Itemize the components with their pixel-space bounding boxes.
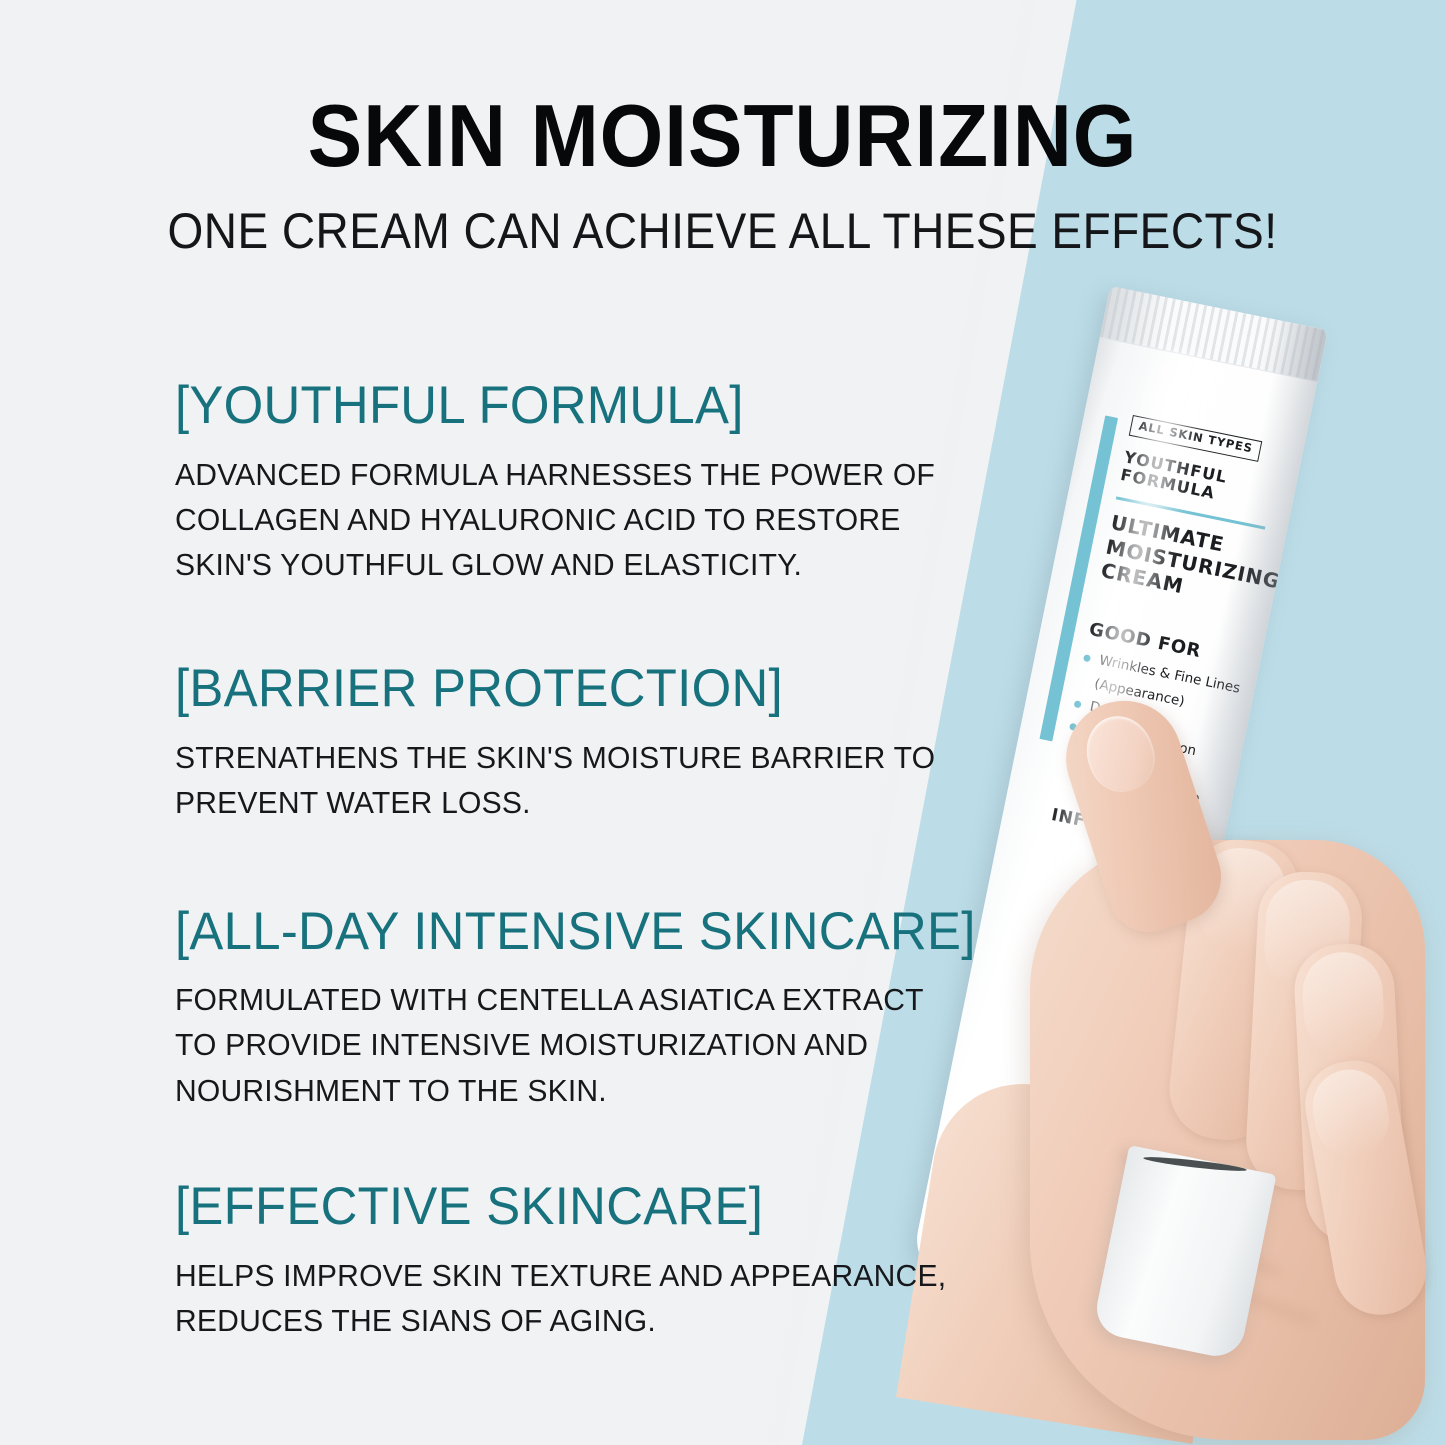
page-subtitle: ONE CREAM CAN ACHIEVE ALL THESE EFFECTS! xyxy=(58,206,1387,256)
feature-body: HELPS IMPROVE SKIN TEXTURE AND APPEARANC… xyxy=(175,1253,1009,1344)
feature-title: [YOUTHFUL FORMULA] xyxy=(175,378,1001,434)
product-marketing-poster: SKIN MOISTURIZING ONE CREAM CAN ACHIEVE … xyxy=(0,0,1445,1445)
feature-body-line: STRENATHENS THE SKIN'S MOISTURE BARRIER … xyxy=(175,735,1009,780)
feature-body: FORMULATED WITH CENTELLA ASIATICA EXTRAC… xyxy=(175,977,1009,1113)
header-block: SKIN MOISTURIZING ONE CREAM CAN ACHIEVE … xyxy=(0,92,1445,256)
feature-item-all-day-intensive-skincare: [ALL-DAY INTENSIVE SKINCARE] FORMULATED … xyxy=(175,904,1035,1113)
feature-body-line: PREVENT WATER LOSS. xyxy=(175,780,1009,825)
thumb-nail xyxy=(1077,707,1163,800)
feature-body-line: HELPS IMPROVE SKIN TEXTURE AND APPEARANC… xyxy=(175,1253,1009,1298)
feature-item-youthful-formula: [YOUTHFUL FORMULA] ADVANCED FORMULA HARN… xyxy=(175,378,1035,587)
feature-body-line: NOURISHMENT TO THE SKIN. xyxy=(175,1068,1009,1113)
feature-list: [YOUTHFUL FORMULA] ADVANCED FORMULA HARN… xyxy=(175,378,1035,1343)
feature-body-line: COLLAGEN AND HYALURONIC ACID TO RESTORE xyxy=(175,497,1009,542)
feature-body-line: ADVANCED FORMULA HARNESSES THE POWER OF xyxy=(175,452,1009,497)
feature-body-line: TO PROVIDE INTENSIVE MOISTURIZATION AND xyxy=(175,1022,1009,1067)
feature-body: ADVANCED FORMULA HARNESSES THE POWER OF … xyxy=(175,452,1009,588)
feature-body-line: SKIN'S YOUTHFUL GLOW AND ELASTICITY. xyxy=(175,542,1009,587)
feature-body-line: REDUCES THE SIANS OF AGING. xyxy=(175,1298,1009,1343)
feature-body-line: FORMULATED WITH CENTELLA ASIATICA EXTRAC… xyxy=(175,977,1009,1022)
feature-item-effective-skincare: [EFFECTIVE SKINCARE] HELPS IMPROVE SKIN … xyxy=(175,1179,1035,1343)
feature-item-barrier-protection: [BARRIER PROTECTION] STRENATHENS THE SKI… xyxy=(175,661,1035,825)
feature-title: [BARRIER PROTECTION] xyxy=(175,661,1001,717)
page-title: SKIN MOISTURIZING xyxy=(51,92,1395,180)
feature-title: [EFFECTIVE SKINCARE] xyxy=(175,1179,1001,1235)
feature-title: [ALL-DAY INTENSIVE SKINCARE] xyxy=(175,904,1001,960)
feature-body: STRENATHENS THE SKIN'S MOISTURE BARRIER … xyxy=(175,735,1009,826)
